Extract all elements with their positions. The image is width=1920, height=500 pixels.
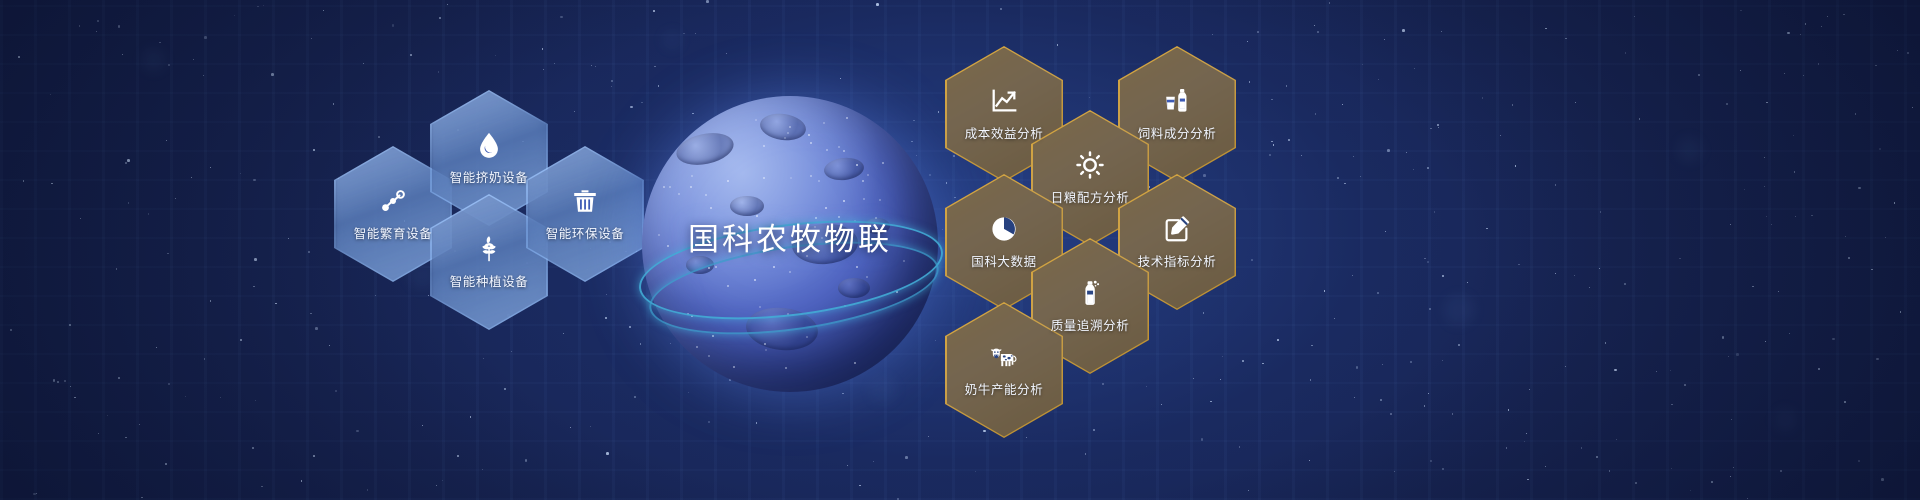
milk-glass-bottle-icon bbox=[1162, 86, 1192, 116]
water-drop-icon bbox=[474, 130, 504, 160]
hex-label: 成本效益分析 bbox=[965, 123, 1044, 142]
page-title: 国科农牧物联 bbox=[642, 214, 938, 259]
hex-label: 饲料成分分析 bbox=[1138, 123, 1217, 142]
hex-label: 智能繁育设备 bbox=[354, 223, 433, 242]
hex-label: 智能挤奶设备 bbox=[450, 167, 529, 186]
hex-label: 国科大数据 bbox=[971, 251, 1037, 270]
hero-banner: 智能繁育设备 智能挤奶设备 bbox=[0, 0, 1920, 500]
hex-label: 智能环保设备 bbox=[546, 223, 625, 242]
edit-pencil-icon bbox=[1162, 214, 1192, 244]
pie-chart-icon bbox=[989, 214, 1019, 244]
trash-bin-icon bbox=[570, 186, 600, 216]
hex-label: 智能种植设备 bbox=[450, 271, 529, 290]
cow-icon bbox=[989, 342, 1019, 372]
hex-label: 日粮配方分析 bbox=[1051, 187, 1130, 206]
plant-leaf-icon bbox=[474, 234, 504, 264]
hex-label: 奶牛产能分析 bbox=[965, 379, 1044, 398]
hex-label: 技术指标分析 bbox=[1138, 251, 1217, 270]
nodes-network-icon bbox=[378, 186, 408, 216]
line-chart-icon bbox=[989, 86, 1019, 116]
milk-bottle-icon bbox=[1075, 278, 1105, 308]
sun-icon bbox=[1075, 150, 1105, 180]
hex-label: 质量追溯分析 bbox=[1051, 315, 1130, 334]
